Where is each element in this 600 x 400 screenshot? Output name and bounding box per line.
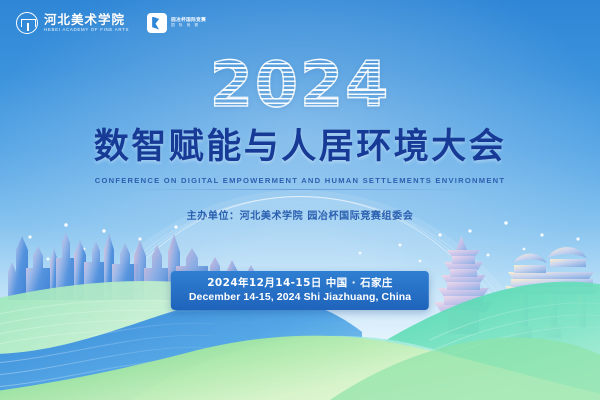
date-line-cn: 2024年12月14-15日 中国 · 石家庄	[189, 276, 411, 290]
year-banner: 2024	[0, 54, 600, 118]
year-text: 2024	[210, 54, 391, 116]
page-subtitle: CONFERENCE ON DIGITAL EMPOWERMENT AND HU…	[0, 176, 600, 185]
poster-header-logos: 河北美术学院 HEBEI ACADEMY OF FINE ARTS 园冶杯国际竞…	[16, 12, 206, 34]
date-location-badge: 2024年12月14-15日 中国 · 石家庄 December 14-15, …	[171, 271, 429, 310]
conference-poster: 河北美术学院 HEBEI ACADEMY OF FINE ARTS 园冶杯国际竞…	[0, 0, 600, 400]
yuanye-name-sub: 国 际 竞 赛	[171, 24, 206, 28]
yuanye-cup-mark-icon	[147, 13, 167, 33]
yuanye-cup-logo[interactable]: 园冶杯国际竞赛 国 际 竞 赛	[147, 13, 206, 33]
title-divider	[124, 189, 476, 190]
hebei-academy-seal-icon	[16, 12, 38, 34]
page-title: 数智赋能与人居环境大会	[0, 126, 600, 168]
hebei-academy-name-en: HEBEI ACADEMY OF FINE ARTS	[44, 28, 129, 32]
organizer-line: 主办单位：河北美术学院 园冶杯国际竞赛组委会	[0, 207, 600, 222]
hebei-academy-name-cn: 河北美术学院	[44, 14, 129, 27]
hebei-academy-logo[interactable]: 河北美术学院 HEBEI ACADEMY OF FINE ARTS	[16, 12, 129, 34]
date-line-en: December 14-15, 2024 Shi Jiazhuang, Chin…	[189, 290, 411, 304]
